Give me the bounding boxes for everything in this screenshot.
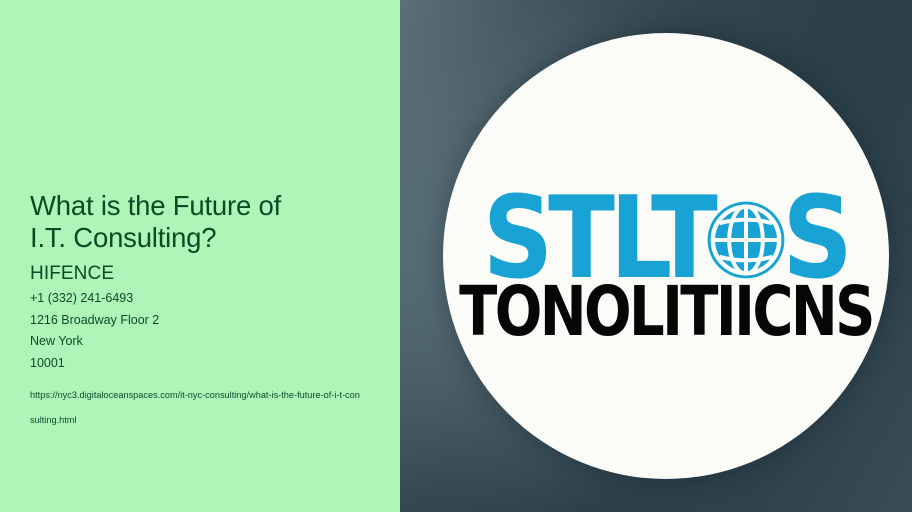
text-block: What is the Future of I.T. Consulting? H… [30, 190, 380, 433]
logo-wordmark-secondary: TONOLITIICNS [459, 279, 873, 347]
right-logo-panel: STLT [400, 0, 912, 512]
company-logo: STLT [443, 33, 889, 479]
contact-street: 1216 Broadway Floor 2 [30, 310, 380, 332]
contact-city: New York [30, 331, 380, 353]
left-content-panel: What is the Future of I.T. Consulting? H… [0, 0, 400, 512]
contact-zip: 10001 [30, 353, 380, 375]
source-url-link[interactable]: https://nyc3.digitaloceanspaces.com/it-n… [30, 383, 362, 433]
globe-icon [706, 200, 786, 280]
page-title: What is the Future of I.T. Consulting? [30, 190, 380, 254]
contact-phone: +1 (332) 241-6493 [30, 288, 380, 310]
logo-wordmark-secondary-row: TONOLITIICNS [443, 281, 889, 345]
slide-canvas: What is the Future of I.T. Consulting? H… [0, 0, 912, 512]
logo-circle-backdrop: STLT [443, 33, 889, 479]
company-name: HIFENCE [30, 262, 380, 285]
